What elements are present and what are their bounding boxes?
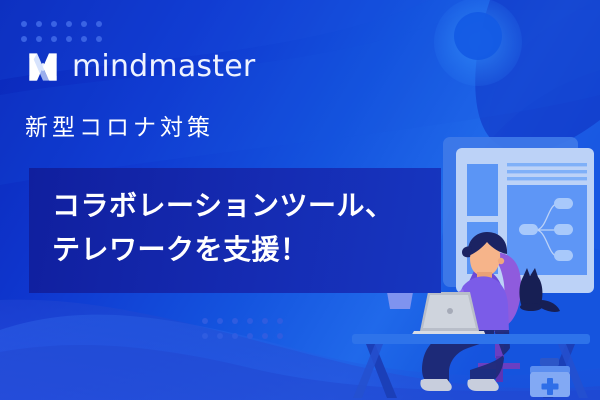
brand-wordmark: mindmaster [72, 52, 255, 82]
mindmaster-promo-banner: mindmaster 新型コロナ対策 コラボレーションツール、 テレワークを支援… [0, 0, 600, 400]
person-shoes [420, 379, 498, 391]
mindmap-child-nodes [554, 198, 573, 261]
headline-line-1: コラボレーションツール、 [52, 184, 452, 228]
app-toolbar-lines [507, 163, 587, 180]
person-ear [498, 258, 504, 264]
mindmap-root-node [519, 224, 538, 235]
headline-line-2: テレワークを支援！ [52, 228, 452, 272]
eyebrow-text: 新型コロナ対策 [25, 117, 214, 140]
headline-text: コラボレーションツール、 テレワークを支援！ [52, 184, 452, 272]
brand-lockup[interactable]: mindmaster [26, 50, 255, 84]
mindmaster-bowtie-m-logo-icon [26, 50, 60, 84]
